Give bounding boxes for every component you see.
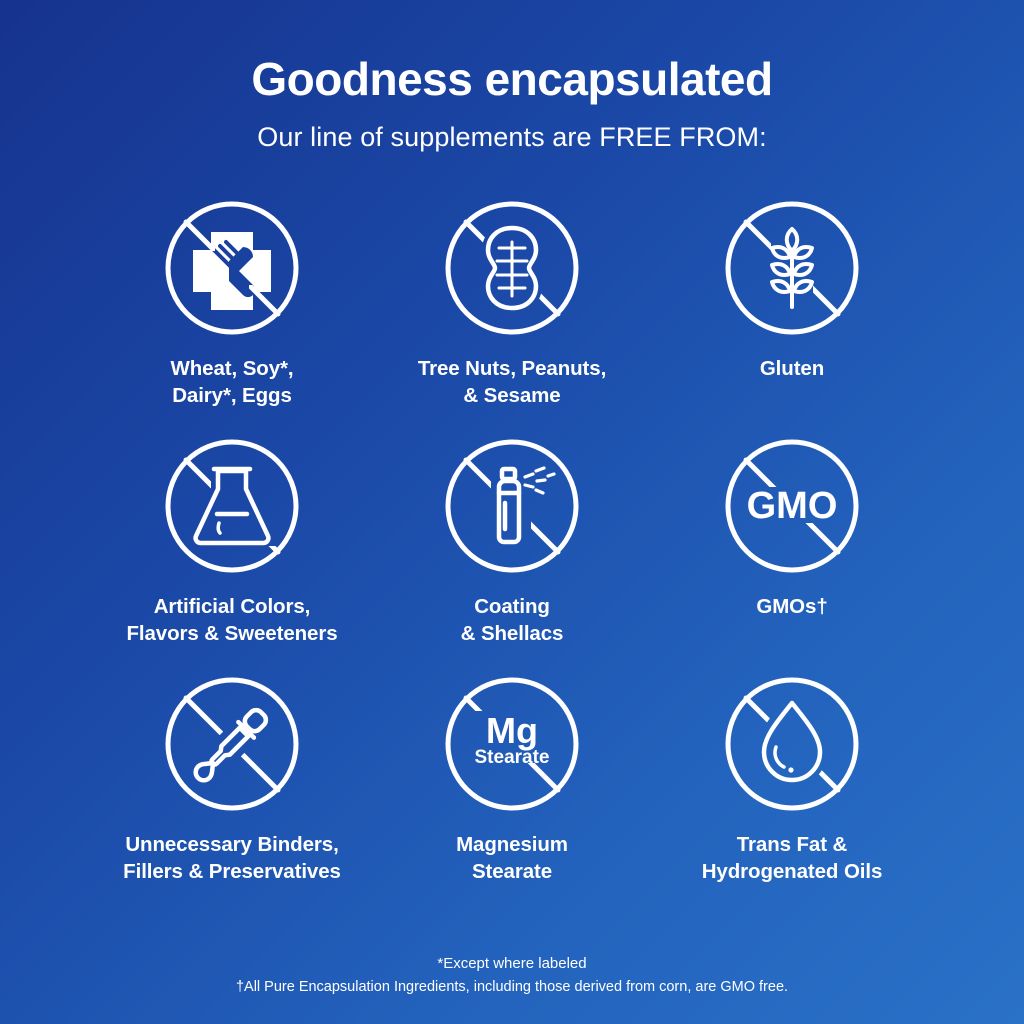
mg-inner-text: Mg bbox=[486, 710, 538, 751]
free-from-item: Tree Nuts, Peanuts, & Sesame bbox=[372, 195, 652, 409]
wheat-stalk-icon bbox=[719, 195, 865, 341]
free-from-label: Unnecessary Binders, Fillers & Preservat… bbox=[123, 831, 341, 885]
free-from-item: GMO GMOs† bbox=[652, 433, 932, 647]
gmo-inner-text: GMO bbox=[747, 485, 838, 527]
free-from-item: Wheat, Soy*, Dairy*, Eggs bbox=[92, 195, 372, 409]
gmo-text-icon: GMO bbox=[719, 433, 865, 579]
free-from-label: Wheat, Soy*, Dairy*, Eggs bbox=[171, 355, 294, 409]
infographic-page: Goodness encapsulated Our line of supple… bbox=[0, 0, 1024, 1024]
free-from-label: Artificial Colors, Flavors & Sweeteners bbox=[126, 593, 337, 647]
flask-icon bbox=[159, 433, 305, 579]
footnote-asterisk: *Except where labeled bbox=[0, 952, 1024, 975]
free-from-item: Mg Stearate Magnesium Stearate bbox=[372, 671, 652, 885]
cross-fork-icon bbox=[159, 195, 305, 341]
spray-can-icon bbox=[439, 433, 585, 579]
mg-stearate-text-icon: Mg Stearate bbox=[439, 671, 585, 817]
stearate-inner-text: Stearate bbox=[475, 747, 550, 768]
free-from-item: Coating & Shellacs bbox=[372, 433, 652, 647]
free-from-item: Gluten bbox=[652, 195, 932, 409]
free-from-label: Coating & Shellacs bbox=[461, 593, 564, 647]
free-from-item: Artificial Colors, Flavors & Sweeteners bbox=[92, 433, 372, 647]
free-from-label: Magnesium Stearate bbox=[456, 831, 568, 885]
free-from-label: Trans Fat & Hydrogenated Oils bbox=[702, 831, 883, 885]
free-from-label: Gluten bbox=[760, 355, 824, 382]
free-from-grid: Wheat, Soy*, Dairy*, Eggs bbox=[92, 195, 932, 885]
page-subtitle: Our line of supplements are FREE FROM: bbox=[257, 122, 766, 153]
free-from-label: Tree Nuts, Peanuts, & Sesame bbox=[418, 355, 606, 409]
peanut-icon bbox=[439, 195, 585, 341]
free-from-item: Unnecessary Binders, Fillers & Preservat… bbox=[92, 671, 372, 885]
free-from-item: Trans Fat & Hydrogenated Oils bbox=[652, 671, 932, 885]
footnotes: *Except where labeled †All Pure Encapsul… bbox=[0, 952, 1024, 998]
footnote-dagger: †All Pure Encapsulation Ingredients, inc… bbox=[0, 976, 1024, 998]
dropper-icon bbox=[159, 671, 305, 817]
page-title: Goodness encapsulated bbox=[251, 52, 772, 106]
free-from-label: GMOs† bbox=[756, 593, 827, 620]
oil-droplet-icon bbox=[719, 671, 865, 817]
